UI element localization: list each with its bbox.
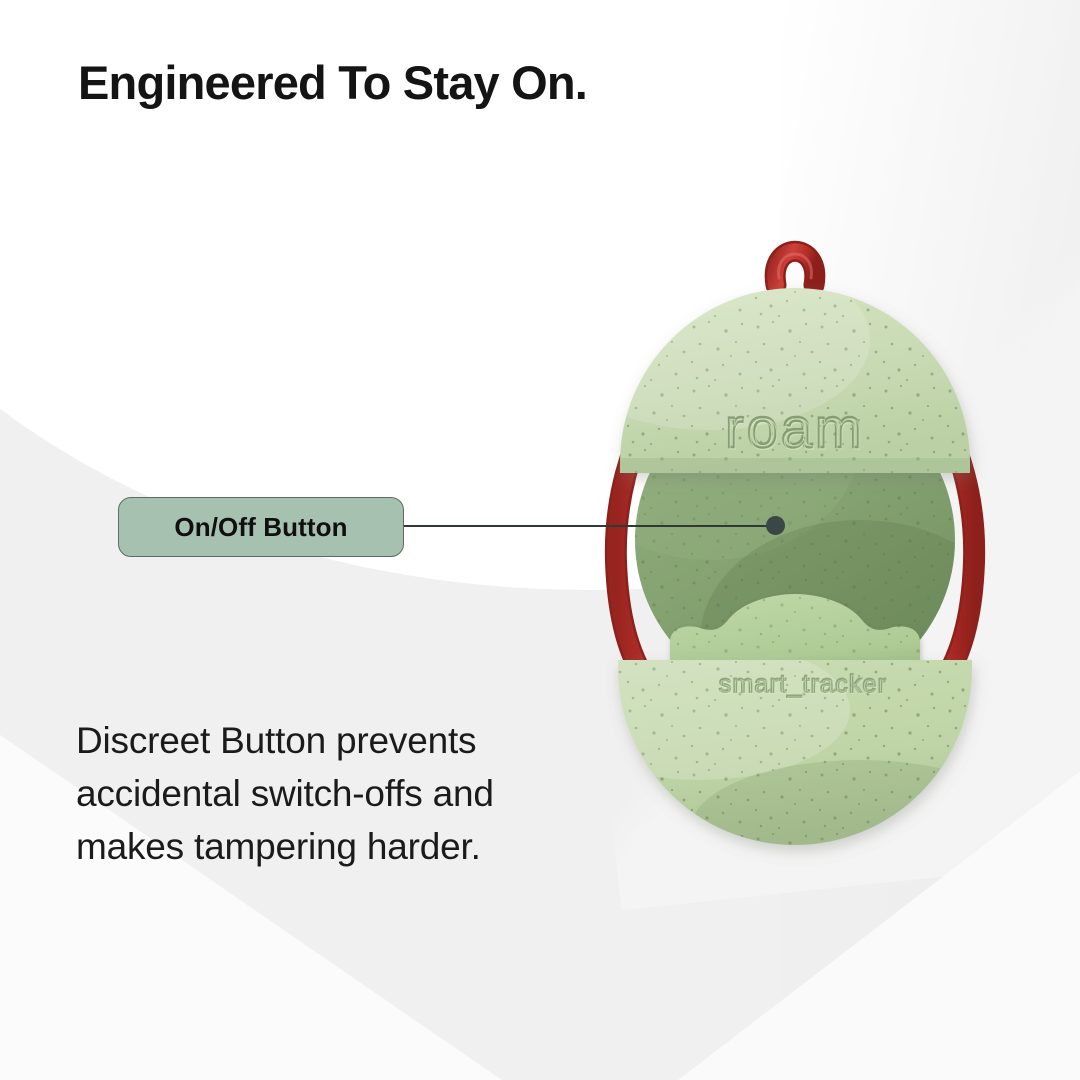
- callout-on-off-button[interactable]: On/Off Button: [118, 497, 404, 557]
- product-illustration: roam roam smart_tracker smart_tracker: [560, 190, 1030, 870]
- on-off-button-marker: [766, 516, 785, 535]
- sub-emboss-highlight: smart_tracker: [720, 672, 888, 700]
- product-feature-graphic: Engineered To Stay On.: [0, 0, 1080, 1080]
- brand-emboss-highlight: roam: [726, 398, 866, 461]
- smart-tracker-device: roam roam smart_tracker smart_tracker: [560, 190, 1030, 870]
- feature-description: Discreet Button prevents accidental swit…: [76, 714, 596, 873]
- callout-leader-line: [404, 525, 776, 527]
- callout-label: On/Off Button: [174, 512, 347, 543]
- device-bottom-shell: smart_tracker smart_tracker: [560, 640, 1030, 870]
- lanyard-loop-icon: [775, 251, 815, 285]
- page-title: Engineered To Stay On.: [78, 55, 587, 110]
